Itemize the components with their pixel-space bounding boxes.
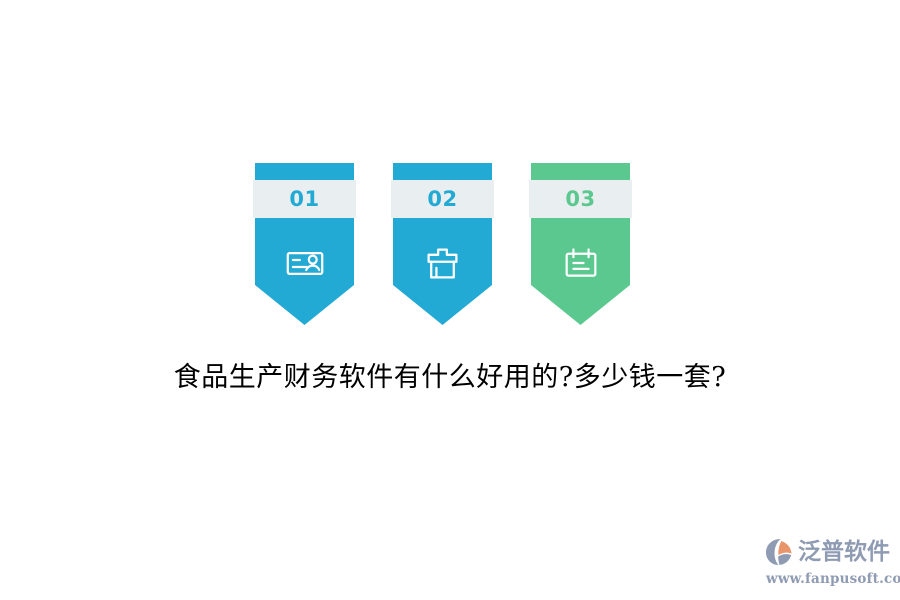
brand-logo: 泛普软件 www.fanpusoft.com [764,534,896,592]
contact-card-person-icon [255,241,354,285]
storefront-icon [393,241,492,285]
banner-group: 01 02 [255,163,645,325]
banner-number-band-03: 03 [529,180,632,218]
logo-brand-text: 泛普软件 [798,541,890,564]
calendar-notes-icon [531,241,630,285]
banner-item-03[interactable]: 03 [531,163,630,325]
logo-url-text: www.fanpusoft.com [766,571,896,587]
banner-number-02: 02 [427,189,457,210]
page-title: 食品生产财务软件有什么好用的?多少钱一套? [0,355,900,394]
fanpu-swoosh-icon [764,537,796,567]
banner-number-01: 01 [289,189,319,210]
banner-number-band-01: 01 [253,180,356,218]
banner-number-03: 03 [565,189,595,210]
banner-number-band-02: 02 [391,180,494,218]
page-canvas: 01 02 [0,0,900,600]
banner-item-01[interactable]: 01 [255,163,354,325]
logo-row: 泛普软件 [764,534,896,570]
banner-item-02[interactable]: 02 [393,163,492,325]
